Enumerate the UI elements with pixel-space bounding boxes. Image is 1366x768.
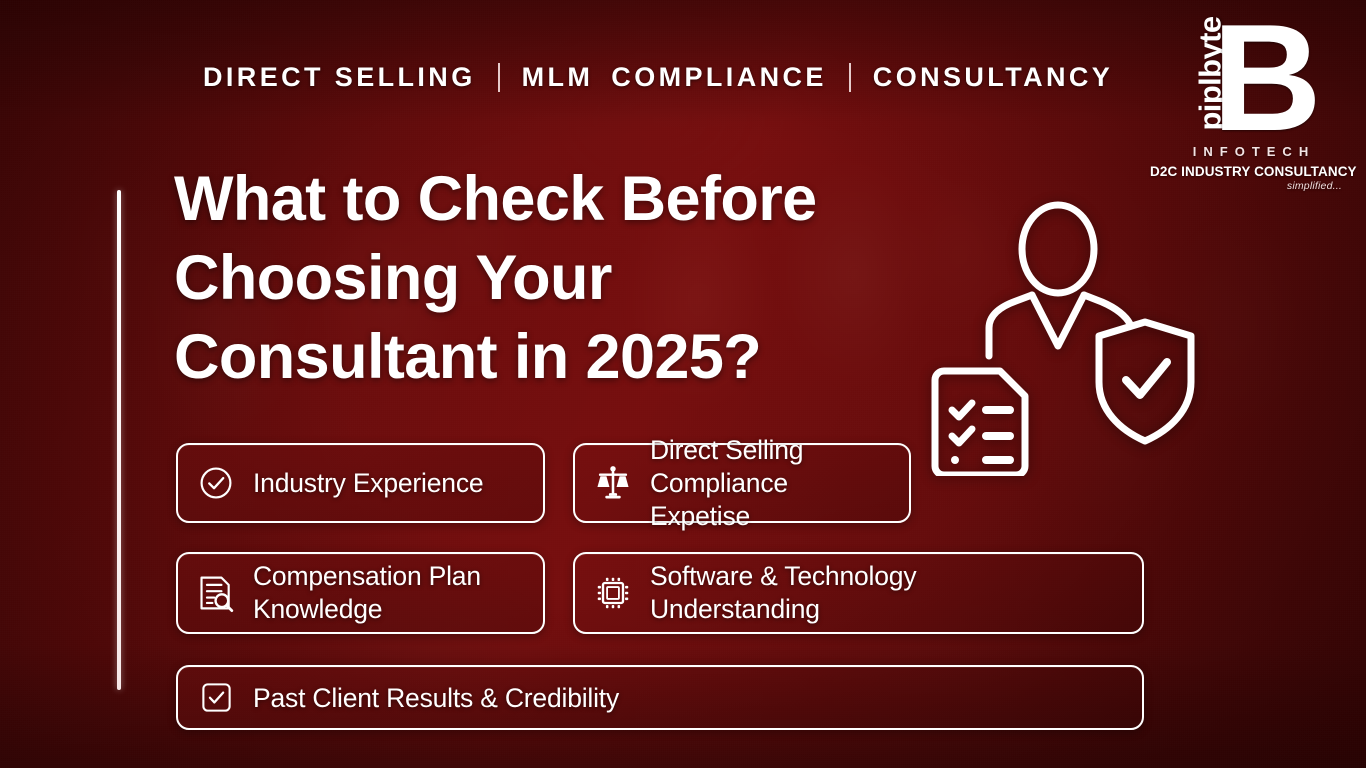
tagline-item-mlm: MLM xyxy=(522,62,594,93)
shield-icon xyxy=(1099,322,1191,441)
checklist-bullet-icon xyxy=(951,456,959,464)
check-circle-icon xyxy=(196,462,236,504)
tagline-item-compliance: COMPLIANCE xyxy=(611,62,827,93)
tagline-item-consultancy: CONSULTANCY xyxy=(873,62,1113,93)
feature-card-software-technology[interactable]: Software & Technology Understanding xyxy=(573,552,1144,634)
tagline-separator-icon xyxy=(498,63,500,92)
check-square-icon xyxy=(196,677,236,719)
service-tagline-bar: DIRECT SELLING MLM COMPLIANCE CONSULTANC… xyxy=(203,62,1113,93)
person-left-shoulder-icon xyxy=(989,295,1032,356)
logo-strapline: simplified... xyxy=(1150,180,1342,192)
headline-line-2: Choosing Your xyxy=(174,239,864,318)
headline-line-3: Consultant in 2025? xyxy=(174,318,864,397)
person-head-icon xyxy=(1022,205,1094,293)
feature-label: Past Client Results & Credibility xyxy=(253,681,619,715)
feature-label: Direct Selling Compliance Expetise xyxy=(650,434,891,533)
shield-check-icon xyxy=(1126,362,1167,395)
feature-label: Compensation Plan Knowledge xyxy=(253,560,481,626)
feature-card-compliance-expertise[interactable]: Direct Selling Compliance Expetise xyxy=(573,443,911,523)
person-collar-icon xyxy=(1032,295,1084,346)
page-title: What to Check Before Choosing Your Consu… xyxy=(174,160,864,397)
tagline-separator-icon xyxy=(849,63,851,92)
logo-tagline: D2C INDUSTRY CONSULTANCY xyxy=(1150,164,1350,179)
brand-logo: piplbyte B INFOTECH D2C INDUSTRY CONSULT… xyxy=(1150,14,1350,186)
balance-scales-icon xyxy=(593,462,633,504)
logo-monogram-b: B xyxy=(1212,2,1318,154)
person-right-shoulder-icon xyxy=(1084,295,1130,324)
checklist-check-1-icon xyxy=(952,403,972,417)
feature-card-past-client-results[interactable]: Past Client Results & Credibility xyxy=(176,665,1144,730)
tagline-item-direct-selling: DIRECT SELLING xyxy=(203,62,476,93)
checklist-check-2-icon xyxy=(952,429,972,443)
feature-card-compensation-plan[interactable]: Compensation Plan Knowledge xyxy=(176,552,545,634)
headline-line-1: What to Check Before xyxy=(174,160,864,239)
feature-label: Software & Technology Understanding xyxy=(650,560,916,626)
microchip-icon xyxy=(593,572,633,614)
document-search-icon xyxy=(196,572,236,614)
poster-canvas: DIRECT SELLING MLM COMPLIANCE CONSULTANC… xyxy=(0,0,1366,768)
feature-card-industry-experience[interactable]: Industry Experience xyxy=(176,443,545,523)
logo-mark: piplbyte B xyxy=(1150,14,1350,144)
feature-label: Industry Experience xyxy=(253,466,483,500)
consultant-shield-checklist-illustration xyxy=(930,196,1202,476)
left-accent-bar xyxy=(117,190,121,690)
logo-subname: INFOTECH xyxy=(1158,144,1350,159)
